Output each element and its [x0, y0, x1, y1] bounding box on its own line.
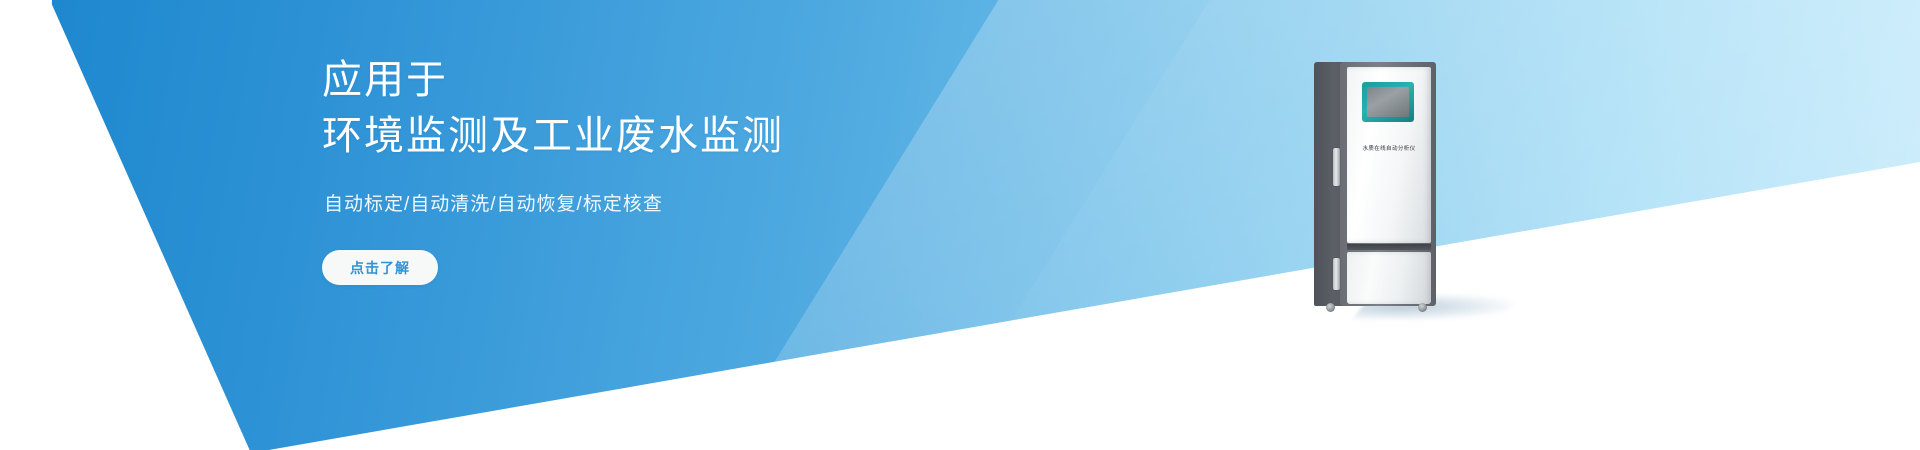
banner-subtitle: 自动标定/自动清洗/自动恢复/标定核查: [324, 192, 1082, 218]
cabinet-lower-door: [1347, 252, 1431, 304]
learn-more-button[interactable]: 点击了解: [322, 250, 438, 285]
product-analyzer-image: 水质在线自动分析仪: [1314, 62, 1436, 320]
cabinet-lower-handle: [1333, 258, 1340, 290]
caster-wheel-left: [1326, 303, 1335, 312]
page-title: 应用于 环境监测及工业废水监测: [322, 52, 1082, 164]
analyzer-screen-bezel: [1362, 82, 1414, 122]
cabinet-upper-handle: [1333, 148, 1340, 186]
hero-banner: 应用于 环境监测及工业废水监测 自动标定/自动清洗/自动恢复/标定核查 点击了解…: [0, 0, 1920, 450]
headline-line-1: 应用于: [322, 58, 448, 102]
headline-line-2: 环境监测及工业废水监测: [322, 108, 1082, 164]
product-label-text: 水质在线自动分析仪: [1347, 144, 1431, 152]
analyzer-screen-glass: [1367, 87, 1409, 117]
banner-copy: 应用于 环境监测及工业废水监测 自动标定/自动清洗/自动恢复/标定核查 点击了解: [322, 52, 1082, 285]
cabinet-door-seam: [1347, 244, 1431, 250]
caster-wheel-right: [1418, 303, 1427, 312]
